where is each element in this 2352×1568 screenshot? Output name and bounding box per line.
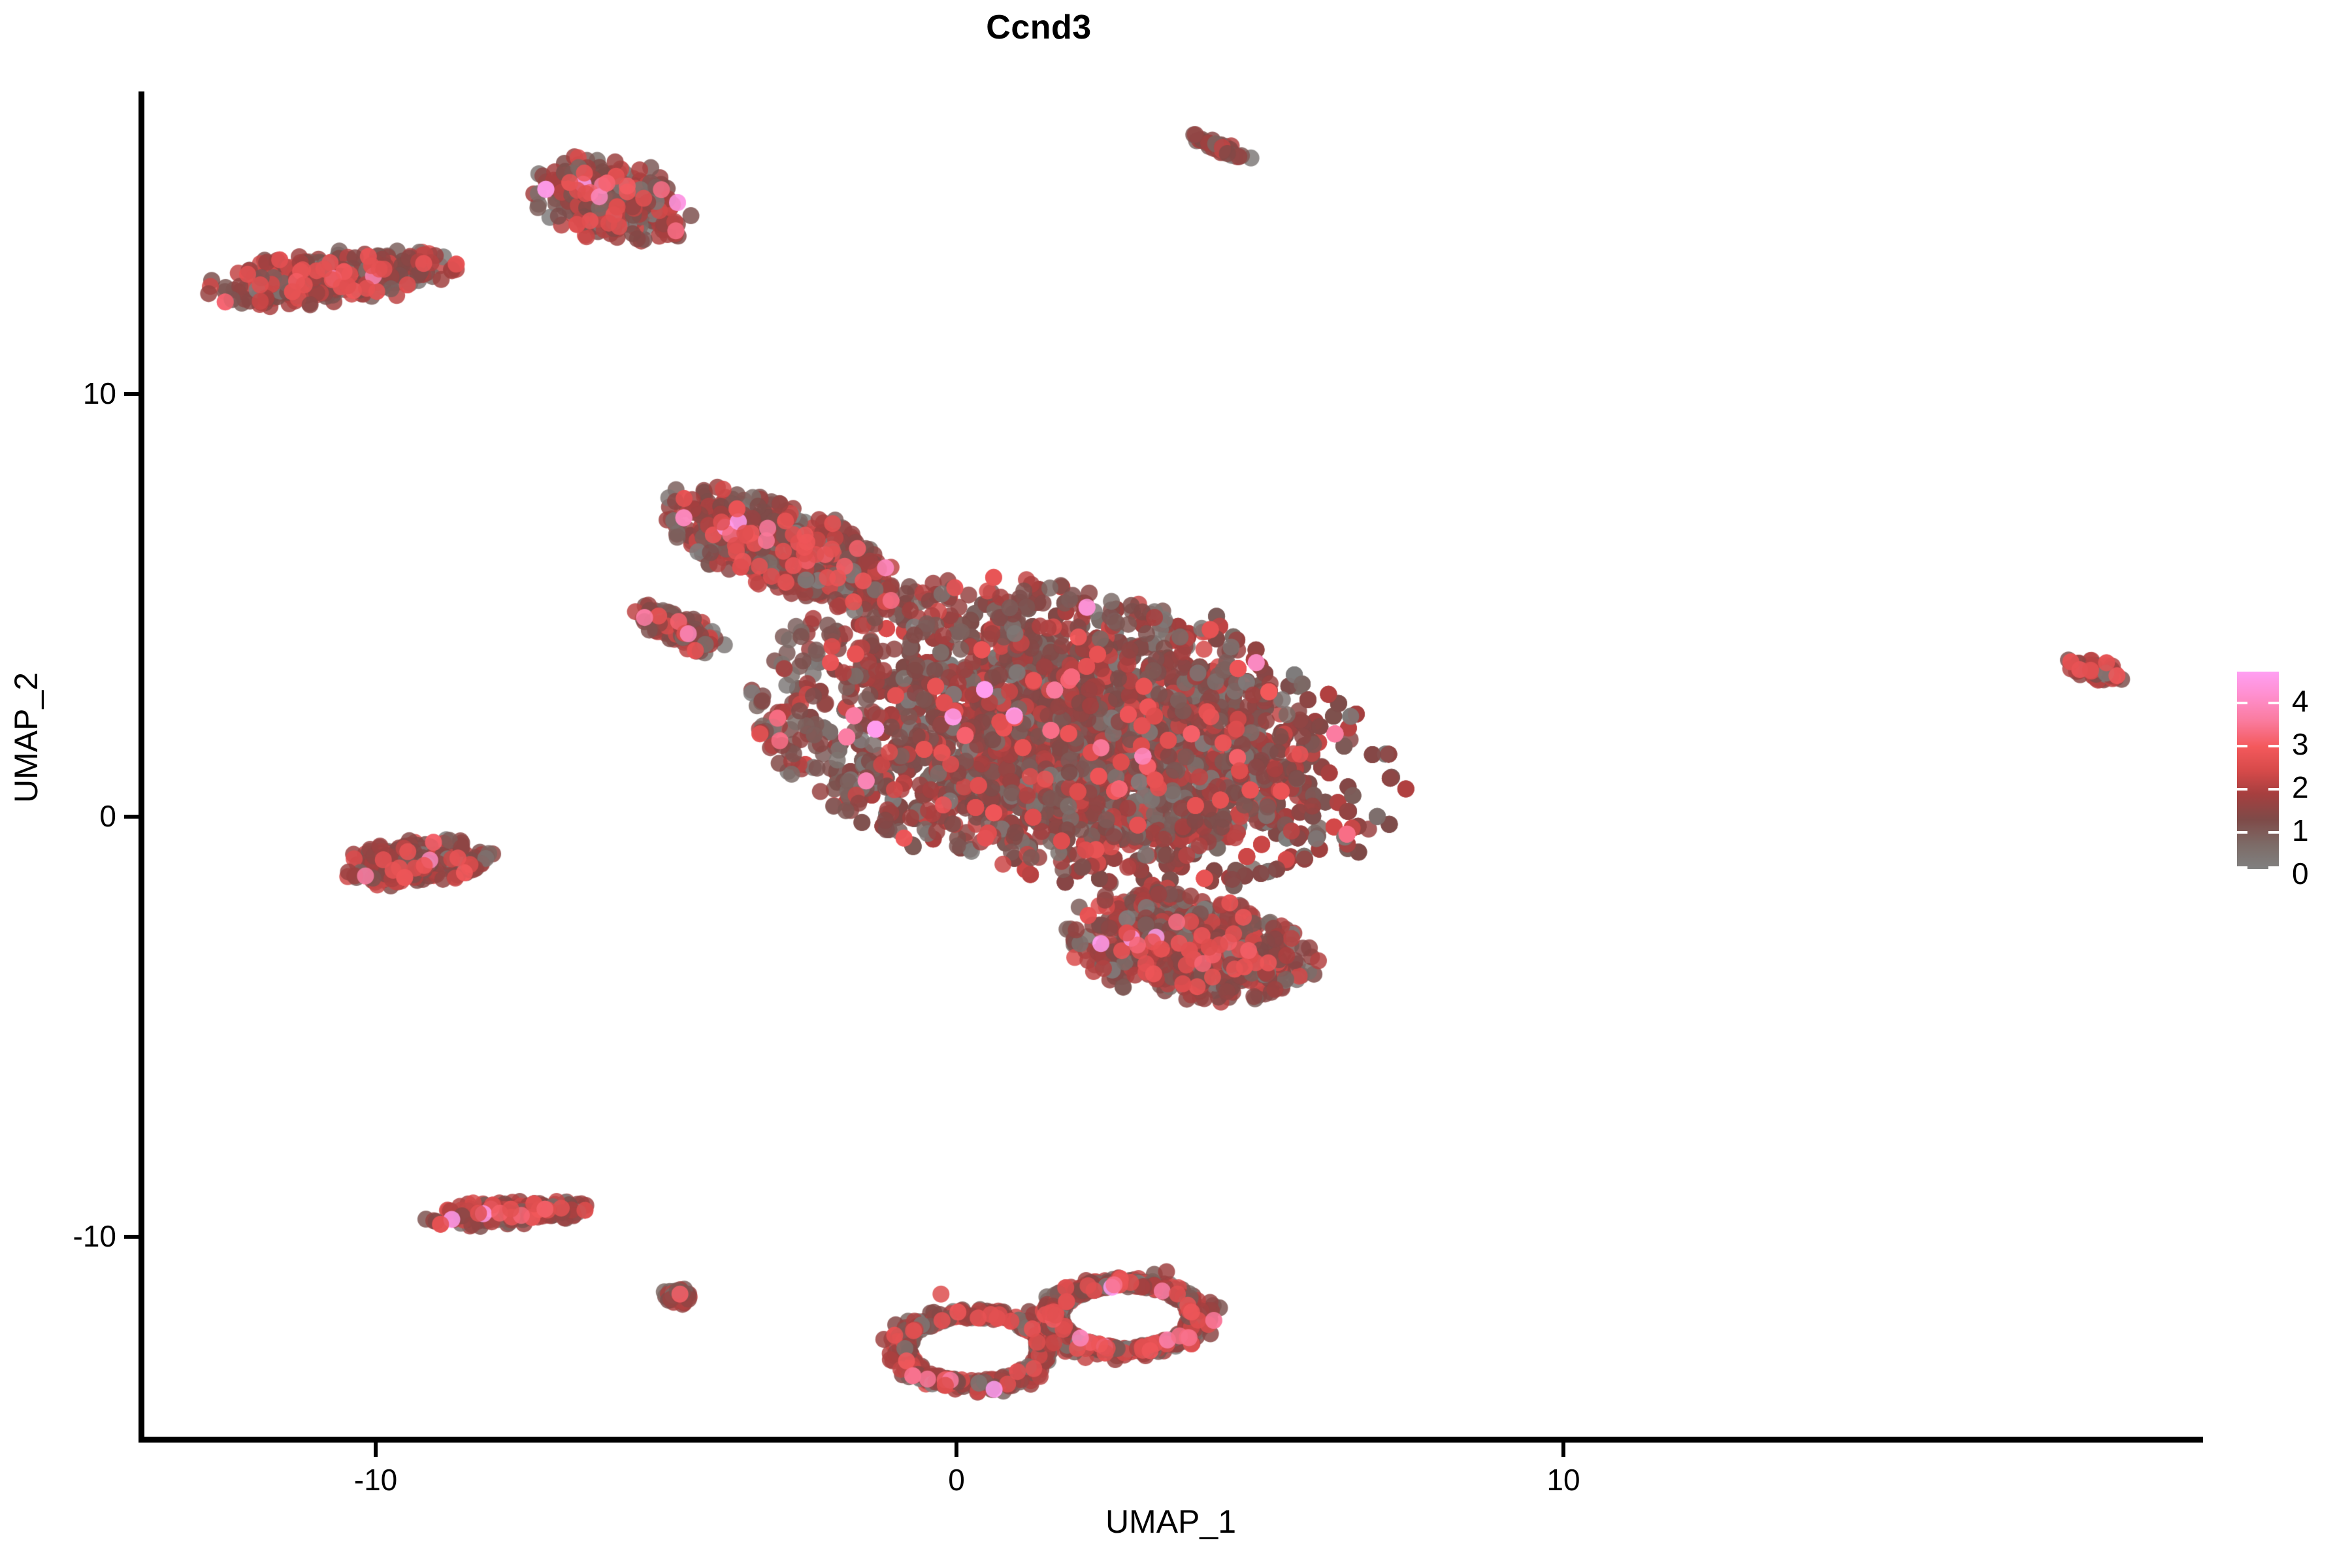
legend-label-0: 0 [2292, 858, 2309, 889]
x-axis-line [139, 1437, 2203, 1443]
y-axis-title: UMAP_2 [7, 542, 45, 934]
y-tick-label-10: 10 [83, 376, 116, 411]
y-tick-mark-0 [124, 815, 139, 819]
y-tick-label-neg10: -10 [73, 1218, 116, 1254]
legend-tick-0-right [2268, 866, 2279, 869]
legend-tick-0-left [2237, 866, 2247, 869]
legend-label-2: 2 [2292, 772, 2309, 802]
y-axis-line [139, 91, 144, 1443]
legend-tick-4-right [2268, 702, 2279, 704]
legend-tick-2-left [2237, 788, 2247, 791]
plot-panel [144, 91, 2203, 1441]
x-tick-label-0: 0 [878, 1462, 1035, 1497]
page-title: Ccnd3 [0, 8, 2078, 47]
x-tick-mark-neg10 [374, 1443, 378, 1457]
y-tick-mark-neg10 [124, 1235, 139, 1239]
legend-tick-3-right [2268, 745, 2279, 747]
color-legend: 4 3 2 1 0 [2237, 672, 2348, 874]
x-tick-mark-10 [1561, 1443, 1565, 1457]
y-tick-label-0: 0 [99, 798, 116, 834]
legend-tick-1-left [2237, 831, 2247, 834]
legend-label-3: 3 [2292, 729, 2309, 759]
scatter-plot-canvas [144, 91, 2203, 1441]
legend-label-4: 4 [2292, 686, 2309, 716]
x-tick-label-neg10: -10 [297, 1462, 454, 1497]
x-tick-mark-0 [955, 1443, 958, 1457]
x-tick-label-10: 10 [1485, 1462, 1642, 1497]
legend-label-1: 1 [2292, 815, 2309, 845]
legend-tick-2-right [2268, 788, 2279, 791]
y-tick-mark-10 [124, 392, 139, 396]
legend-tick-1-right [2268, 831, 2279, 834]
x-axis-title: UMAP_1 [139, 1503, 2203, 1541]
legend-tick-4-left [2237, 702, 2247, 704]
legend-tick-3-left [2237, 745, 2247, 747]
umap-feature-plot: Ccnd3 10 0 -10 -10 0 10 UMAP_1 UMAP_2 4 … [0, 0, 2352, 1568]
